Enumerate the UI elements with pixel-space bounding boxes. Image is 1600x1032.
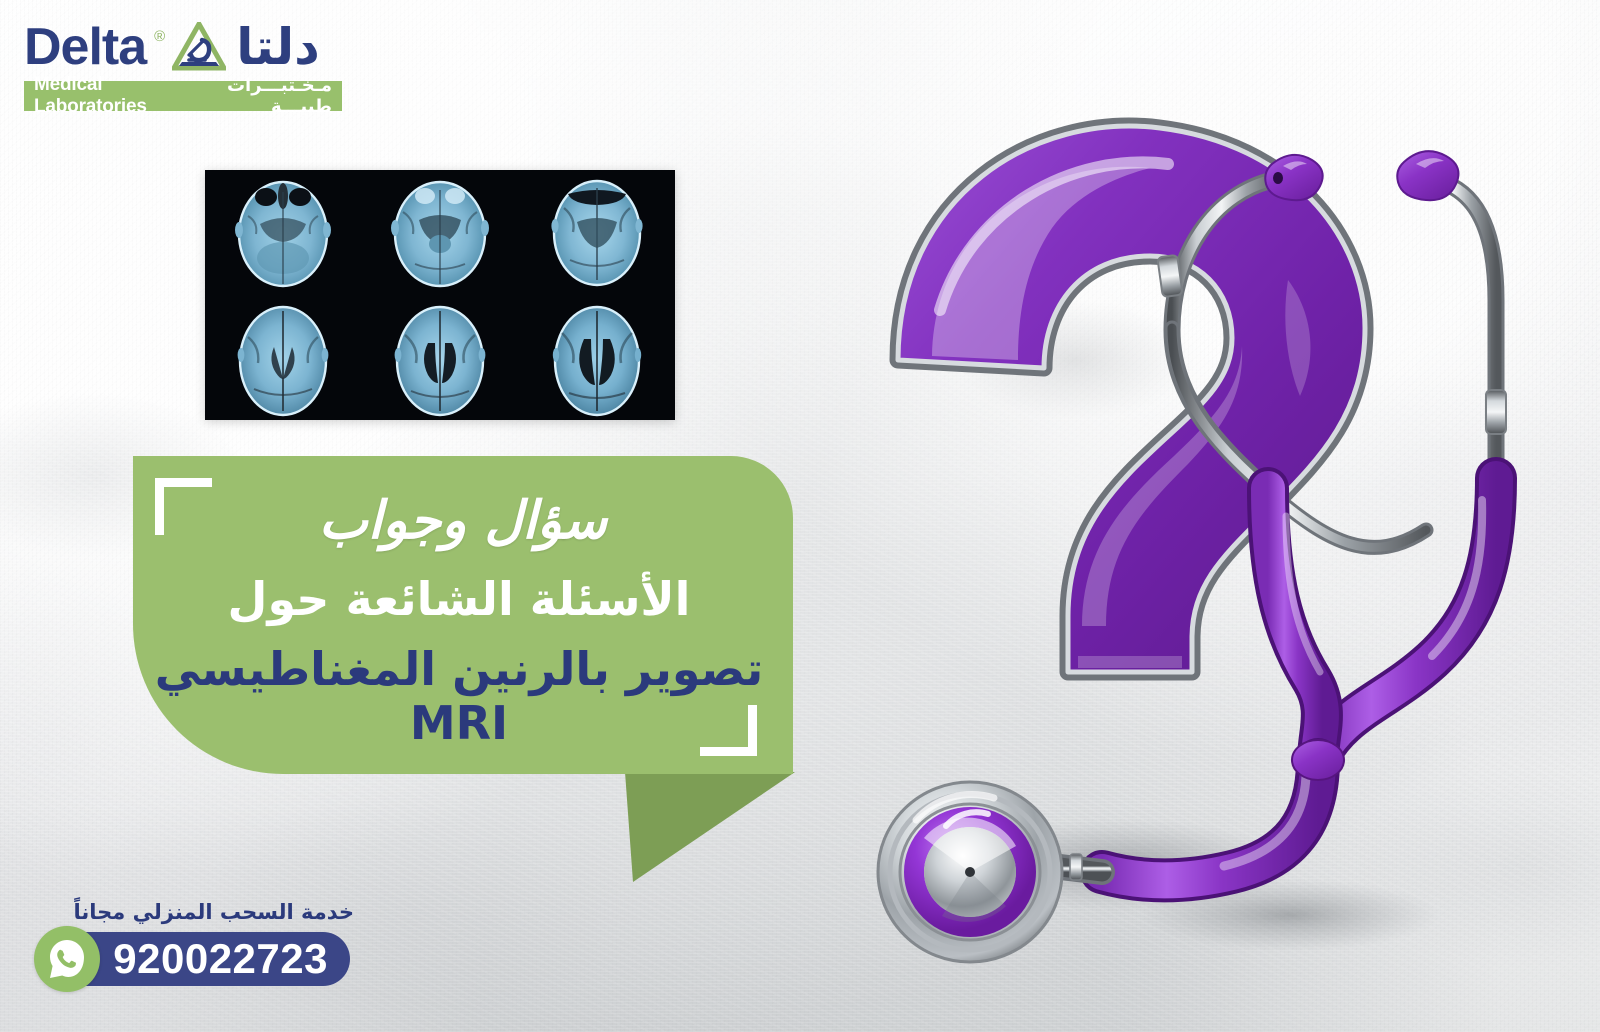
home-collection-note: خدمة السحب المنزلي مجاناً: [74, 900, 354, 924]
speech-bubble: سؤال وجواب الأسئلة الشائعة حول تصوير بال…: [133, 456, 793, 774]
logo-tagline-ar: مـخـتبـــرات طبيـــة: [195, 75, 332, 117]
logo-wordmark-row: Delta ® دلتا: [14, 16, 374, 78]
microscope-triangle-icon: [172, 22, 226, 72]
mri-brain-scan-grid: [205, 170, 675, 420]
stethoscope-chestpiece: [878, 782, 1062, 962]
contact-block: خدمة السحب المنزلي مجاناً 920022723: [30, 900, 370, 1000]
logo-tagline-en: Medical Laboratories: [34, 74, 181, 118]
mri-slice: [518, 170, 675, 295]
brand-logo: Delta ® دلتا Medical Laboratories مـخـتب…: [14, 16, 374, 111]
stethoscope-earpiece-tips: [1265, 151, 1458, 200]
purple-question-mark-with-stethoscope: [820, 60, 1600, 1010]
mri-slice: [205, 170, 362, 295]
whatsapp-icon[interactable]: [34, 926, 100, 992]
logo-brand-en: Delta: [24, 21, 146, 73]
mri-slice: [518, 295, 675, 420]
bubble-subheadline: الأسئلة الشائعة حول: [133, 572, 785, 626]
bubble-topic-mri: تصوير بالرنين المغناطيسي MRI: [133, 642, 785, 750]
phone-number[interactable]: 920022723: [113, 938, 328, 980]
mri-slice: [362, 170, 519, 295]
poster-canvas: Delta ® دلتا Medical Laboratories مـخـتب…: [0, 0, 1600, 1032]
mri-slice: [362, 295, 519, 420]
logo-brand-ar: دلتا: [236, 22, 320, 72]
registered-trademark-icon: ®: [154, 29, 165, 44]
phone-pill[interactable]: 920022723: [60, 932, 350, 986]
mri-slice: [205, 295, 362, 420]
logo-tagline-bar: Medical Laboratories مـخـتبـــرات طبيـــ…: [24, 81, 342, 111]
bubble-headline-qa: سؤال وجواب: [133, 490, 793, 551]
